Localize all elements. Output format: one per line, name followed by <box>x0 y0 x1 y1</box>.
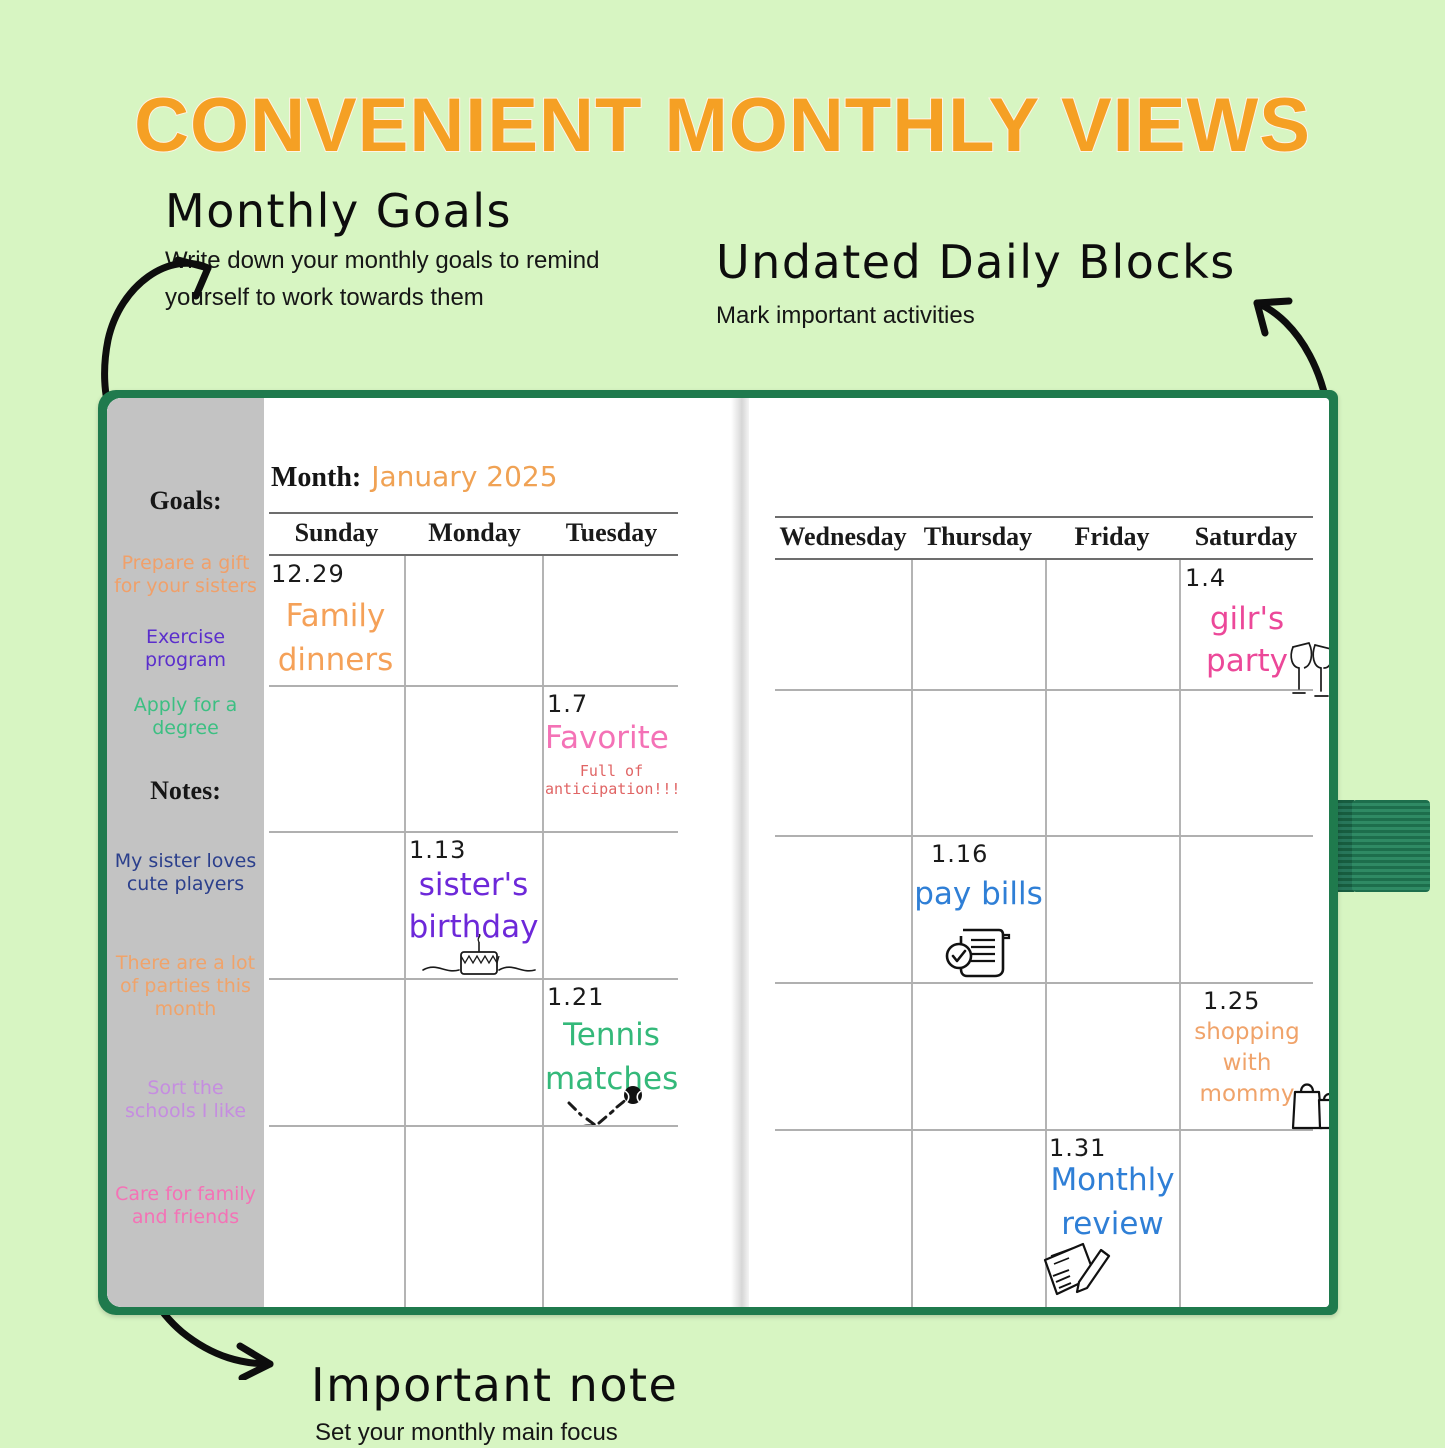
entry-text-1-16[interactable]: pay bills <box>913 872 1044 916</box>
calendar-cell-1-16[interactable]: 1.16 pay bills <box>913 838 1044 981</box>
calendar-cell-1-7[interactable]: 1.7 Favorite band concerts Full of antic… <box>545 688 678 830</box>
day-number-1-4: 1.4 <box>1185 564 1313 592</box>
day-number-1-16: 1.16 <box>931 840 1044 868</box>
grid-hline-left-2 <box>269 831 678 833</box>
grid-hline-left-4 <box>269 1125 678 1127</box>
day-number-12-29: 12.29 <box>271 560 402 588</box>
grid-hline-right-4 <box>775 1129 1313 1131</box>
calendar-cell-12-29[interactable]: 12.29 Family dinners <box>269 558 402 683</box>
shopping-bags-icon <box>1289 1076 1329 1132</box>
weekday-header-monday: Monday <box>407 518 542 548</box>
day-number-1-21: 1.21 <box>547 983 678 1011</box>
goals-heading: Goals: <box>107 486 264 516</box>
callout-title-undated-daily-blocks: Undated Daily Blocks <box>716 234 1236 290</box>
weekday-header-friday: Friday <box>1045 522 1179 552</box>
goal-item-1[interactable]: Exercise program <box>107 626 264 672</box>
grid-hline-left-1 <box>269 685 678 687</box>
calendar-cell-1-21[interactable]: 1.21 Tennis matches <box>545 981 678 1125</box>
callout-title-monthly-goals: Monthly Goals <box>165 183 599 239</box>
tennis-ball-icon <box>555 1085 665 1125</box>
note-item-1[interactable]: There are a lot of parties this month <box>107 952 264 1021</box>
month-label: Month: <box>271 462 361 494</box>
page-gutter <box>731 398 749 1307</box>
notebook-cover: Goals: Prepare a gift for your sisters E… <box>98 390 1338 1315</box>
callout-monthly-goals: Monthly Goals Write down your monthly go… <box>165 183 599 313</box>
entry-note-1-7: Full of anticipation!!! <box>545 762 678 798</box>
header-rule-top-left <box>269 512 678 514</box>
grid-hline-right-3 <box>775 982 1313 984</box>
entry-text-12-29[interactable]: Family dinners <box>269 594 402 682</box>
callout-sub-line2-monthly-goals: yourself to work towards them <box>165 282 599 313</box>
note-item-3[interactable]: Care for family and friends <box>107 1183 264 1229</box>
weekday-header-wednesday: Wednesday <box>775 522 911 552</box>
weekday-header-sunday: Sunday <box>269 518 404 548</box>
weekday-header-thursday: Thursday <box>911 522 1045 552</box>
callout-important-note: Important note Set your monthly main foc… <box>311 1357 678 1448</box>
birthday-cake-icon <box>419 934 539 977</box>
day-number-1-7: 1.7 <box>547 690 678 718</box>
header-rule-bottom-right <box>775 558 1313 560</box>
elastic-band-closure <box>1352 800 1430 892</box>
notes-heading: Notes: <box>107 776 264 806</box>
callout-sub-line1-undated-daily-blocks: Mark important activities <box>716 300 1236 331</box>
weekday-header-tuesday: Tuesday <box>545 518 678 548</box>
entry-text-1-31[interactable]: Monthly review <box>1047 1158 1178 1246</box>
page-title: CONVENIENT MONTHLY VIEWS <box>0 82 1445 169</box>
grid-hline-right-1 <box>775 689 1313 691</box>
grid-vline-left-2 <box>542 556 544 1307</box>
entry-text-1-7[interactable]: Favorite band concerts <box>545 720 678 756</box>
month-value[interactable]: January 2025 <box>371 460 557 493</box>
grid-hline-left-3 <box>269 978 678 980</box>
page-left: Goals: Prepare a gift for your sisters E… <box>107 398 731 1307</box>
goals-notes-sidebar: Goals: Prepare a gift for your sisters E… <box>107 398 264 1307</box>
day-number-1-25: 1.25 <box>1203 987 1313 1015</box>
day-number-1-13: 1.13 <box>409 836 540 864</box>
weekday-header-saturday: Saturday <box>1179 522 1313 552</box>
calendar-cell-1-13[interactable]: 1.13 sister's birthday <box>407 834 540 977</box>
note-item-2[interactable]: Sort the schools I like <box>107 1077 264 1123</box>
grid-vline-left-1 <box>404 556 406 1307</box>
invoice-check-icon <box>945 924 1011 980</box>
header-rule-bottom-left <box>269 554 678 556</box>
page-right: Wednesday Thursday Friday Saturday 1.4 g… <box>749 398 1329 1307</box>
header-rule-top-right <box>775 516 1313 518</box>
callout-sub-line1-monthly-goals: Write down your monthly goals to remind <box>165 245 599 276</box>
note-item-0[interactable]: My sister loves cute players <box>107 850 264 896</box>
callout-sub-line1-important-note: Set your monthly main focus <box>315 1417 678 1448</box>
champagne-glasses-icon <box>1285 641 1329 699</box>
callout-undated-daily-blocks: Undated Daily Blocks Mark important acti… <box>716 234 1236 331</box>
notebook-pages: Goals: Prepare a gift for your sisters E… <box>107 398 1329 1307</box>
grid-hline-right-2 <box>775 835 1313 837</box>
goal-item-2[interactable]: Apply for a degree <box>107 694 264 740</box>
goal-item-0[interactable]: Prepare a gift for your sisters <box>107 552 264 598</box>
callout-title-important-note: Important note <box>311 1357 678 1413</box>
review-note-icon <box>1039 1236 1117 1302</box>
